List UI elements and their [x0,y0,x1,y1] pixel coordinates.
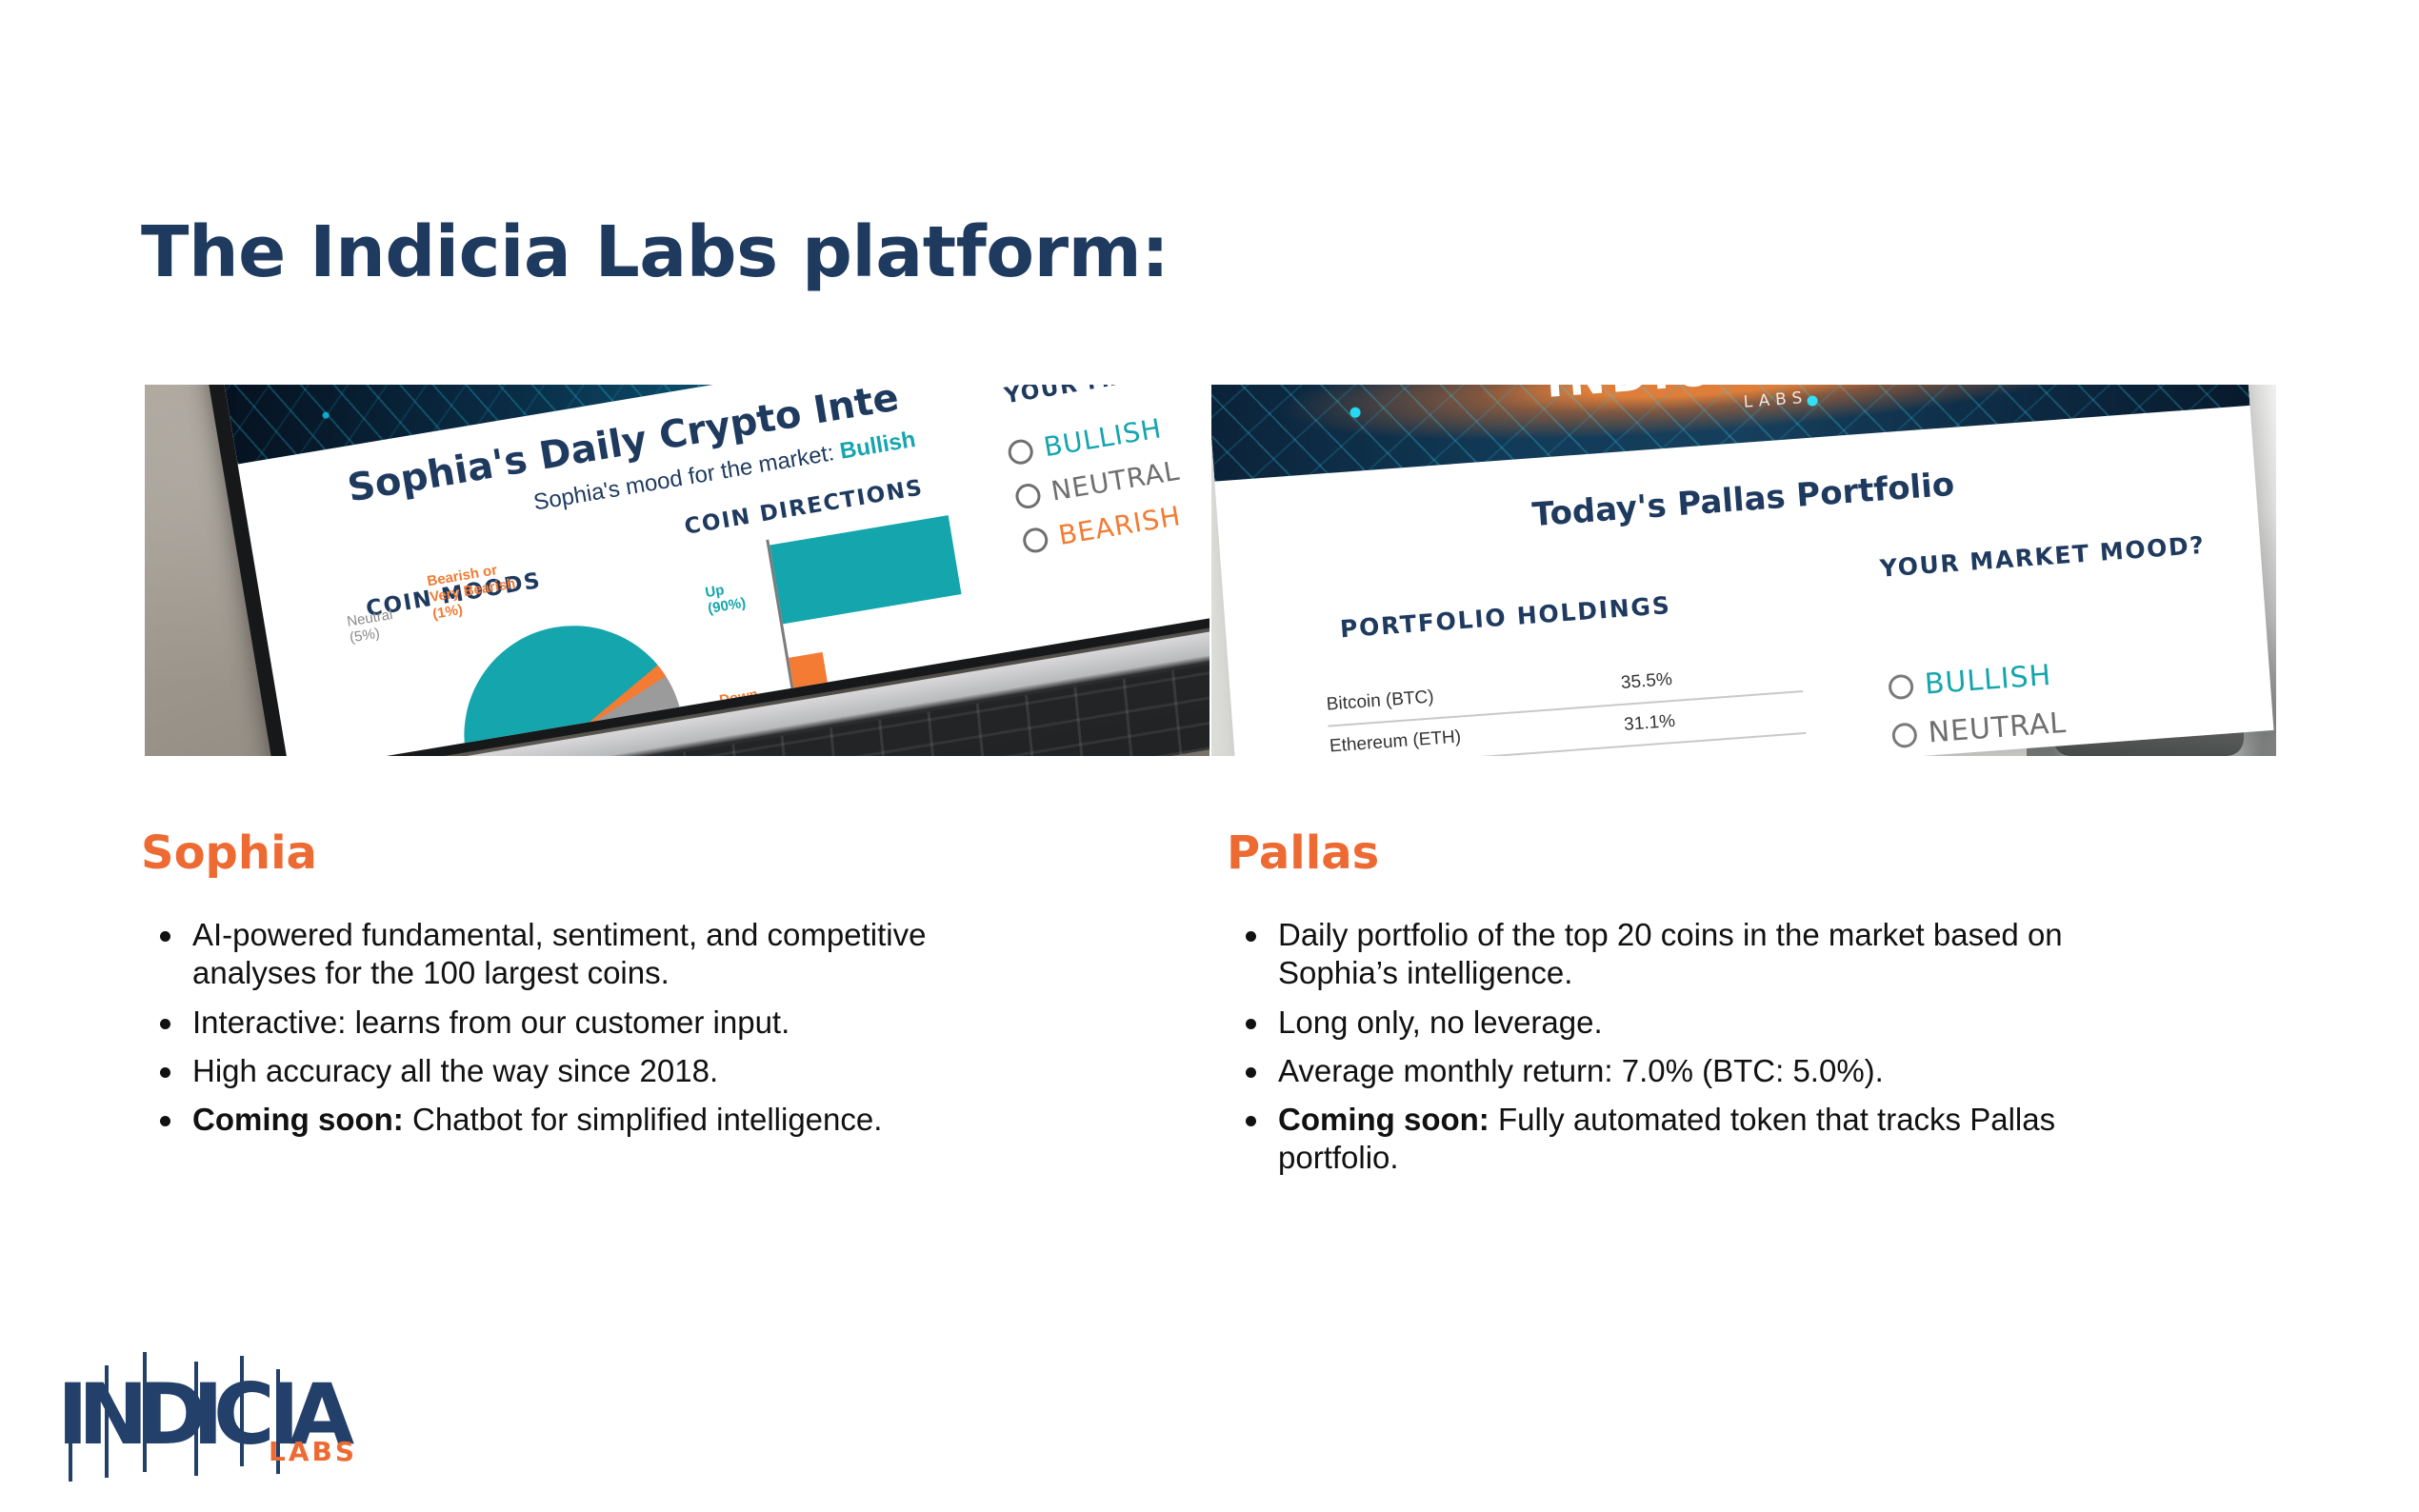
tablet-device: INDICIA LABS Today's Pallas Portfolio PO… [1211,385,2273,756]
market-mood-options-left: BULLISH NEUTRAL BEARISH [1006,410,1191,570]
bullet-text: Interactive: learns from our customer in… [192,1005,790,1040]
bullet-text: AI-powered fundamental, sentiment, and c… [192,917,926,990]
pallas-product-screenshot: INDICIA LABS Today's Pallas Portfolio PO… [1211,385,2276,756]
pallas-hero-network-mesh [1211,385,2249,482]
mood-option-label: BULLISH [1924,659,2053,702]
bullet-list-pallas: Daily portfolio of the top 20 coins in t… [1227,916,2274,1178]
holding-weight: 31.1% [1623,711,1675,736]
slide-canvas: The Indicia Labs platform: INDICIA Sophi… [0,0,2419,1512]
market-mood-label-left: YOUR MARKET MOOD? [1003,385,1209,408]
logo-labs-text: LABS [269,1436,357,1467]
radio-icon[interactable] [1888,673,1914,700]
market-mood-options-right: BULLISH NEUTRAL [1888,658,2069,756]
bullet-text: Long only, no leverage. [1278,1005,1603,1040]
mood-option-neutral[interactable]: NEUTRAL [1891,706,2069,752]
mood-option-label: NEUTRAL [1049,455,1182,507]
column-pallas: Pallas Daily portfolio of the top 20 coi… [1227,826,2274,1188]
laptop-device: INDICIA Sophia's Daily Crypto Inte Sophi… [202,385,1209,756]
list-item: Long only, no leverage. [1227,1004,2141,1042]
mood-option-bullish[interactable]: BULLISH [1888,658,2065,704]
column-heading-pallas: Pallas [1227,826,2274,880]
portfolio-holdings-label: PORTFOLIO HOLDINGS [1339,591,1671,643]
list-item: Coming soon: Fully automated token that … [1227,1101,2141,1178]
bar-label-up: Up (90%) [704,579,747,618]
bar-up [770,515,961,624]
bullet-text: Chatbot for simplified intelligence. [404,1102,883,1137]
holding-weight: 0% [1627,755,1654,756]
sophia-product-screenshot: INDICIA Sophia's Daily Crypto Inte Sophi… [145,385,1209,756]
holding-weight: 35.5% [1620,669,1672,694]
market-mood-value: Bullish [838,427,917,465]
list-item: Daily portfolio of the top 20 coins in t… [1227,916,2141,993]
page-title: The Indicia Labs platform: [141,211,1169,293]
list-item: Coming soon: Chatbot for simplified inte… [141,1101,1055,1139]
radio-icon[interactable] [1007,437,1035,466]
market-mood-label-right: YOUR MARKET MOOD? [1879,531,2206,583]
pallas-page-title: Today's Pallas Portfolio [1530,466,1955,534]
bullet-bold: Coming soon: [1278,1102,1489,1137]
bullet-text: Daily portfolio of the top 20 coins in t… [1278,917,2063,990]
indicia-labs-logo: I N D I C I A LABS [50,1344,364,1478]
bullet-list-sophia: AI-powered fundamental, sentiment, and c… [141,916,1189,1139]
bullet-bold: Coming soon: [192,1102,404,1137]
pie-note-neutral: Neutral (5%) [346,607,396,647]
logo-letter: C [213,1365,275,1463]
pie-note-bearish: Bearish or Very Bearish (1%) [426,559,519,622]
column-heading-sophia: Sophia [141,826,1189,880]
column-sophia: Sophia AI-powered fundamental, sentiment… [141,826,1189,1149]
mood-option-label: BULLISH [1042,412,1165,463]
portfolio-holdings-table: Bitcoin (BTC) 35.5% Ethereum (ETH) 31.1%… [1325,650,1812,756]
list-item: AI-powered fundamental, sentiment, and c… [141,916,1055,993]
bullet-text: Average monthly return: 7.0% (BTC: 5.0%)… [1278,1053,1884,1088]
list-item: Average monthly return: 7.0% (BTC: 5.0%)… [1227,1052,2141,1090]
list-item: Interactive: learns from our customer in… [141,1004,1055,1042]
mood-option-label: NEUTRAL [1927,706,2068,750]
screenshot-row: INDICIA Sophia's Daily Crypto Inte Sophi… [0,385,2419,756]
bullet-text: High accuracy all the way since 2018. [192,1053,718,1088]
list-item: High accuracy all the way since 2018. [141,1052,1055,1090]
radio-icon[interactable] [1013,482,1042,510]
radio-icon[interactable] [1021,526,1050,554]
radio-icon[interactable] [1891,722,1918,748]
mood-option-label: BEARISH [1056,500,1183,551]
